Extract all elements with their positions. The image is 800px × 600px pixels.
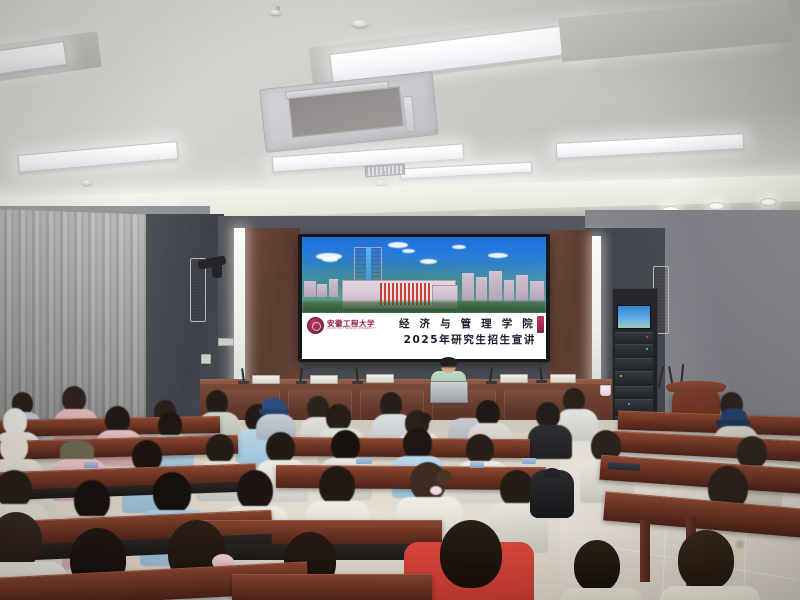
cloud [488, 253, 508, 258]
university-logo: 安徽工程大学 ANHUI POLYTECHNIC UNIVERSITY [307, 317, 376, 334]
cloud [420, 259, 437, 264]
person-head [326, 404, 351, 431]
background-building [329, 279, 338, 297]
slide-campus-photo [302, 237, 546, 313]
hair-bun [436, 470, 452, 486]
hair-bun [420, 413, 431, 424]
person-head [574, 540, 620, 592]
person-head [237, 470, 273, 510]
smoke-detector [376, 180, 386, 185]
university-name-english: ANHUI POLYTECHNIC UNIVERSITY [327, 328, 376, 331]
projector-arm [212, 262, 222, 278]
person-head [74, 480, 110, 520]
person-head [206, 434, 234, 464]
rack-status-led [628, 403, 630, 405]
microphone-base [486, 381, 497, 384]
person-head [500, 470, 534, 507]
wood-wall-panel-left [246, 228, 300, 390]
water-cup [600, 385, 611, 396]
rack-unit [615, 344, 653, 356]
background-building [504, 280, 514, 301]
rack-status-led [646, 348, 648, 350]
background-building [489, 271, 502, 301]
microphone-base [536, 380, 547, 383]
campus-treeline [302, 301, 546, 313]
bench-leg [640, 520, 650, 582]
phone-screen [356, 458, 372, 464]
rack-unit [615, 358, 653, 369]
backpack-strap [544, 468, 560, 478]
rack-unit [615, 371, 653, 384]
person-cap [60, 440, 94, 461]
phone-screen [522, 458, 536, 464]
phone-screen [470, 462, 484, 468]
downlight [708, 202, 725, 210]
rack-status-led [646, 336, 648, 338]
person-head [440, 520, 502, 588]
presenter-hair [440, 357, 457, 366]
audience-bench-row [232, 574, 432, 600]
cloud [322, 257, 338, 262]
rack-status-led [620, 375, 622, 377]
cloud [388, 242, 408, 248]
person-torso [560, 588, 642, 600]
smoke-detector [352, 20, 368, 27]
person-head [266, 432, 295, 463]
wall-light-column-right [592, 236, 601, 386]
person-head [319, 466, 355, 505]
downlight [760, 198, 777, 206]
microphone-base [352, 381, 363, 384]
hair-tie [430, 486, 442, 495]
phone-screen [84, 462, 98, 468]
wall-light-column-left [234, 228, 245, 390]
detector-stem [382, 171, 385, 175]
lecture-hall-photo: 安徽工程大学 ANHUI POLYTECHNIC UNIVERSITY 经 济 … [0, 0, 800, 600]
person-head [0, 470, 32, 508]
rack-monitor [617, 305, 651, 329]
person-head [153, 472, 191, 514]
slide-heading-line2: 2025年研究生招生宣讲 [404, 335, 536, 346]
person-torso [660, 586, 760, 600]
cloud [452, 245, 466, 249]
table-nameplate [310, 375, 338, 384]
background-building [530, 281, 544, 301]
microphone-base [296, 381, 307, 384]
cloud [402, 249, 415, 253]
rack-unit [615, 386, 653, 397]
hair-bun [484, 438, 497, 451]
university-seal-icon [307, 317, 324, 334]
person-head [3, 408, 27, 435]
background-building [516, 275, 528, 301]
wood-wall-panel-right [548, 230, 592, 386]
table-nameplate [366, 374, 394, 383]
slide-heading-line1: 经 济 与 管 理 学 院 [399, 319, 536, 330]
table-nameplate [252, 375, 280, 384]
slide-text-area: 安徽工程大学 ANHUI POLYTECHNIC UNIVERSITY 经 济 … [302, 313, 546, 359]
led-display[interactable]: 安徽工程大学 ANHUI POLYTECHNIC UNIVERSITY 经 济 … [302, 237, 546, 359]
person-head [331, 430, 360, 461]
microphone-base [238, 381, 249, 384]
person-head [0, 432, 28, 462]
person-head [105, 406, 130, 433]
wall-outlet-plate [218, 338, 234, 346]
person-head [678, 530, 734, 590]
table-nameplate [550, 374, 576, 383]
background-building [476, 277, 487, 301]
slide-corner-badge [537, 316, 544, 333]
background-building [304, 281, 316, 297]
person-head [403, 428, 432, 459]
smoke-detector [82, 180, 92, 185]
person-torso [528, 425, 572, 459]
smoke-detector [270, 10, 281, 15]
table-nameplate [500, 374, 528, 383]
background-building [317, 284, 327, 297]
lectern-top [666, 381, 726, 392]
wall-switch-plate [201, 354, 211, 364]
background-building [462, 273, 474, 301]
